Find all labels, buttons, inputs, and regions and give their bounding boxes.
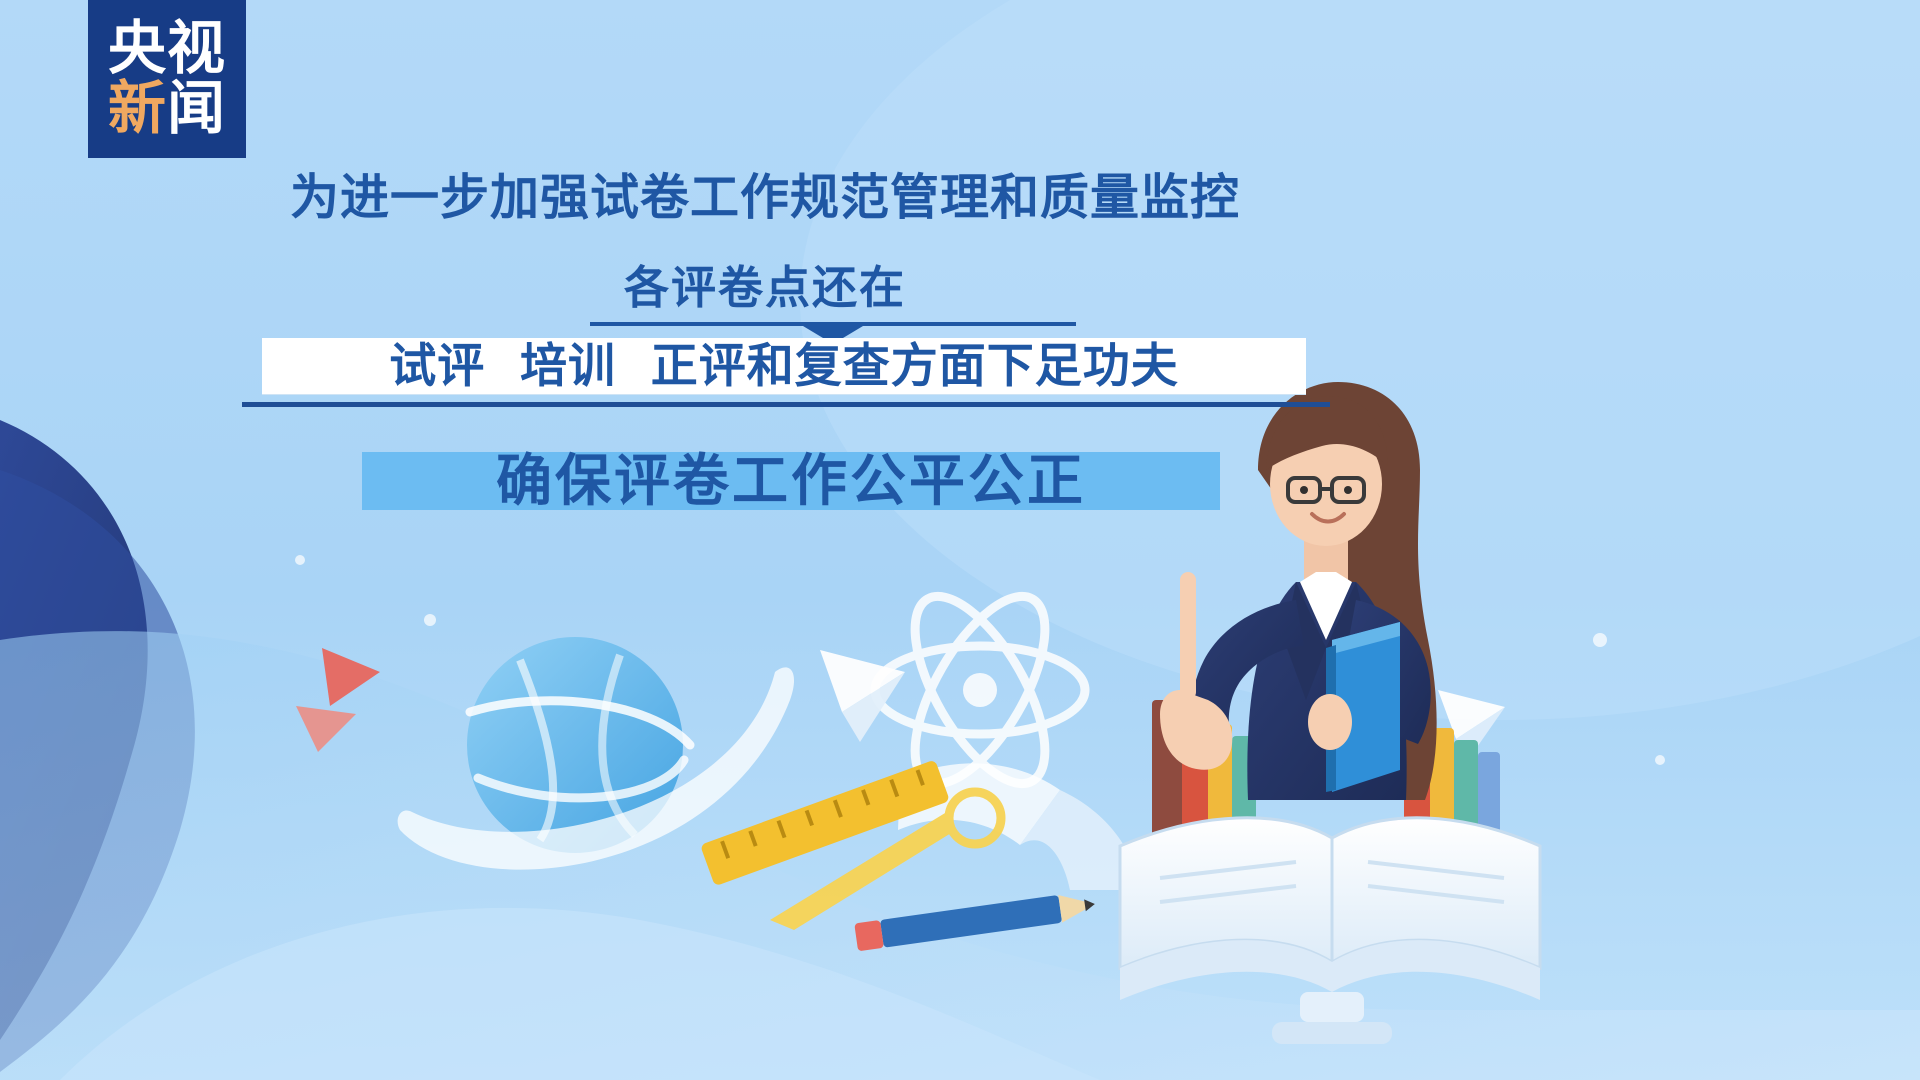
headline-line-1: 为进一步加强试卷工作规范管理和质量监控	[0, 170, 1530, 226]
atom-icon	[875, 577, 1085, 803]
open-book-icon	[1120, 818, 1540, 1044]
headline-line-2: 各评卷点还在	[0, 262, 1530, 314]
notebook-icon	[1326, 622, 1400, 792]
pencil-icon	[854, 890, 1097, 951]
pointing-hand	[1160, 572, 1232, 770]
logo-char-xin: 新	[108, 79, 167, 137]
headline-banner-rule	[242, 402, 1330, 407]
glasses-icon	[1288, 478, 1364, 502]
logo-char-yang: 央视	[108, 19, 226, 77]
book-stack-icon-right	[1404, 716, 1500, 840]
headline-banner-white: 试评 培训 正评和复查方面下足功夫	[262, 338, 1306, 394]
headline-line-3: 试评 培训 正评和复查方面下足功夫	[389, 343, 1178, 390]
set-square-icon	[770, 792, 1001, 930]
globe-icon	[398, 637, 794, 870]
headline-line-4: 确保评卷工作公平公正	[362, 440, 1220, 524]
book-stack-icon	[1152, 700, 1256, 840]
poster-canvas: 央视 新 闻 为进一步加强试卷工作规范管理和质量监控 各评卷点还在 试评 培训 …	[0, 0, 1920, 1080]
logo-line-1: 央视	[108, 19, 226, 77]
background-illustration	[0, 0, 1920, 1080]
cctv-news-logo: 央视 新 闻	[88, 0, 246, 158]
paper-plane-icon	[820, 650, 1505, 760]
sparkle-decor	[295, 555, 1665, 765]
triangle-decor	[296, 648, 380, 752]
ruler-icon	[700, 759, 950, 886]
logo-line-2: 新 闻	[108, 79, 226, 137]
logo-char-wen: 闻	[167, 79, 226, 137]
document-decor	[898, 763, 1140, 890]
